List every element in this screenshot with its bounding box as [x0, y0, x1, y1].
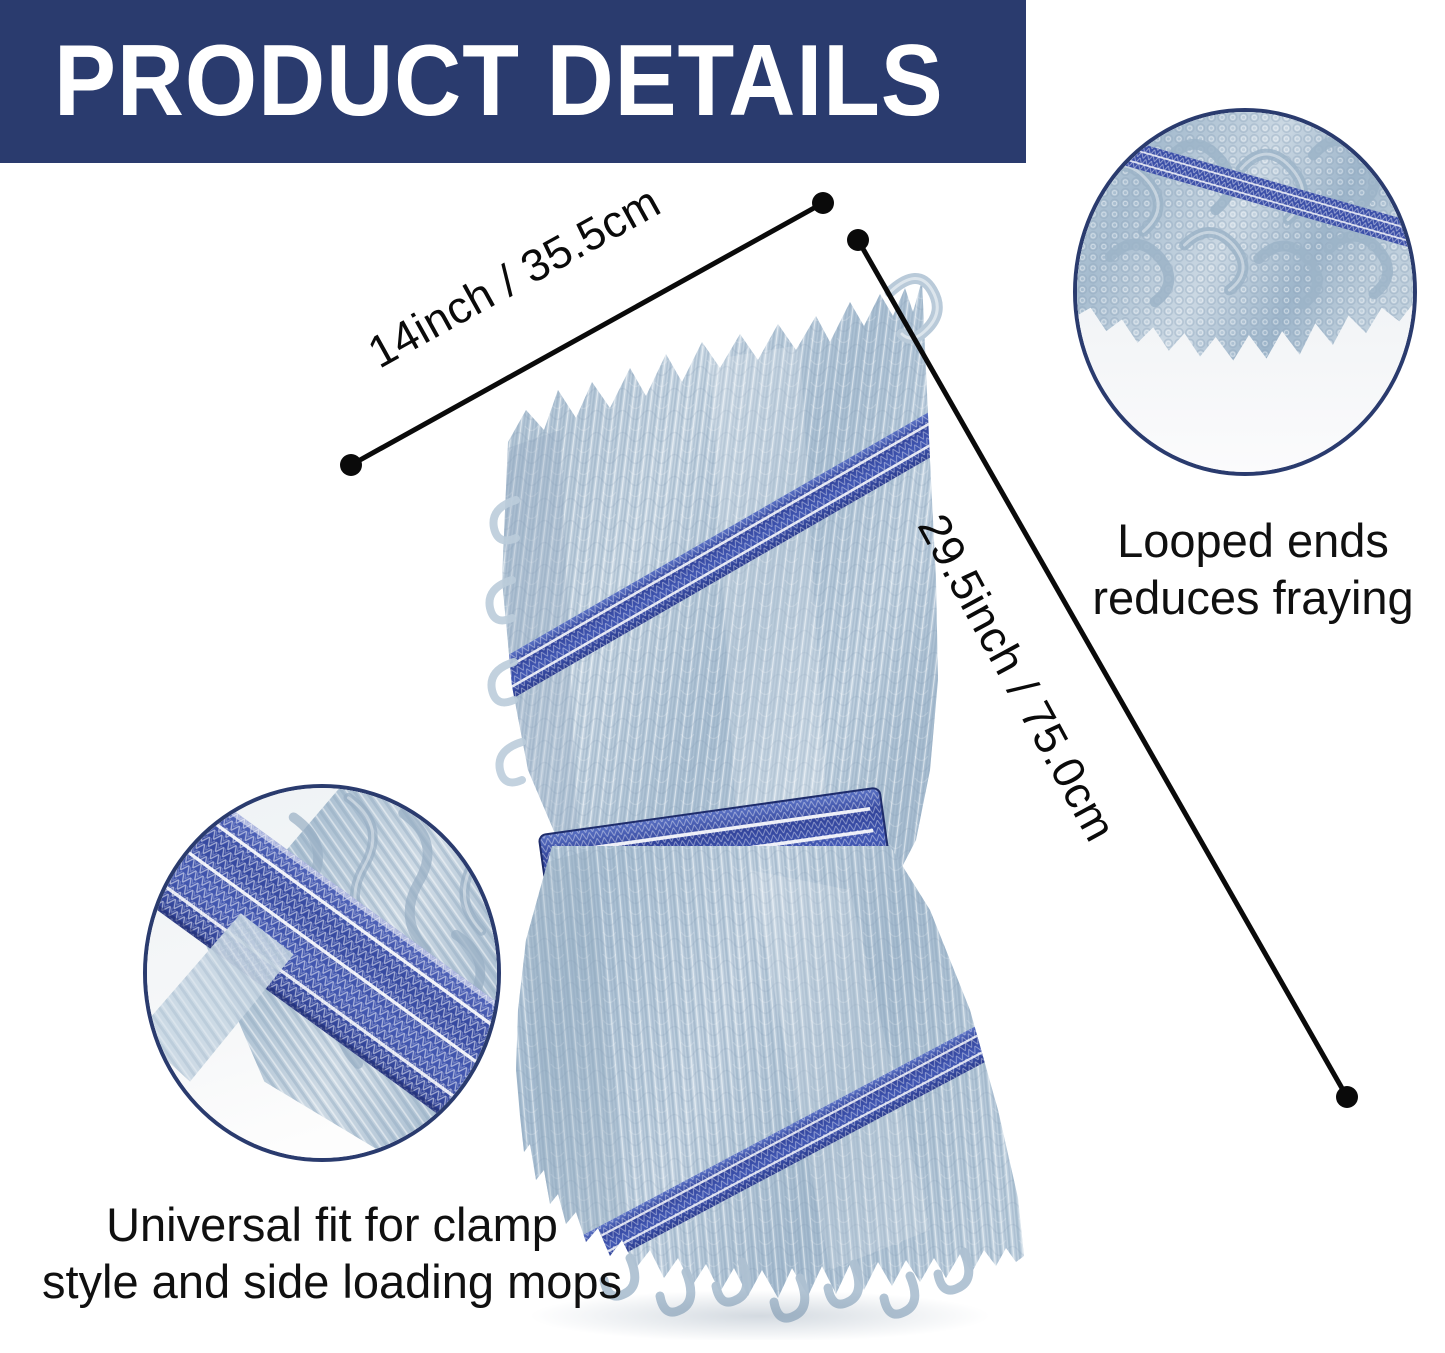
- dimension-dot-width-end: [812, 192, 834, 214]
- caption-universal-fit: Universal fit for clamp style and side l…: [18, 1196, 646, 1311]
- callout-circle-universal-fit: [143, 784, 501, 1162]
- callout-circle-looped-ends: [1073, 108, 1417, 476]
- header-banner: PRODUCT DETAILS: [0, 0, 1026, 163]
- caption-looped-ends: Looped ends reduces fraying: [1079, 512, 1427, 627]
- product-details-infographic: PRODUCT DETAILS: [0, 0, 1445, 1353]
- product-photo-mop-head: [330, 250, 1070, 1340]
- page-title: PRODUCT DETAILS: [54, 31, 944, 132]
- dimension-dot-length-end: [1336, 1086, 1358, 1108]
- dimension-dot-length-start: [847, 229, 869, 251]
